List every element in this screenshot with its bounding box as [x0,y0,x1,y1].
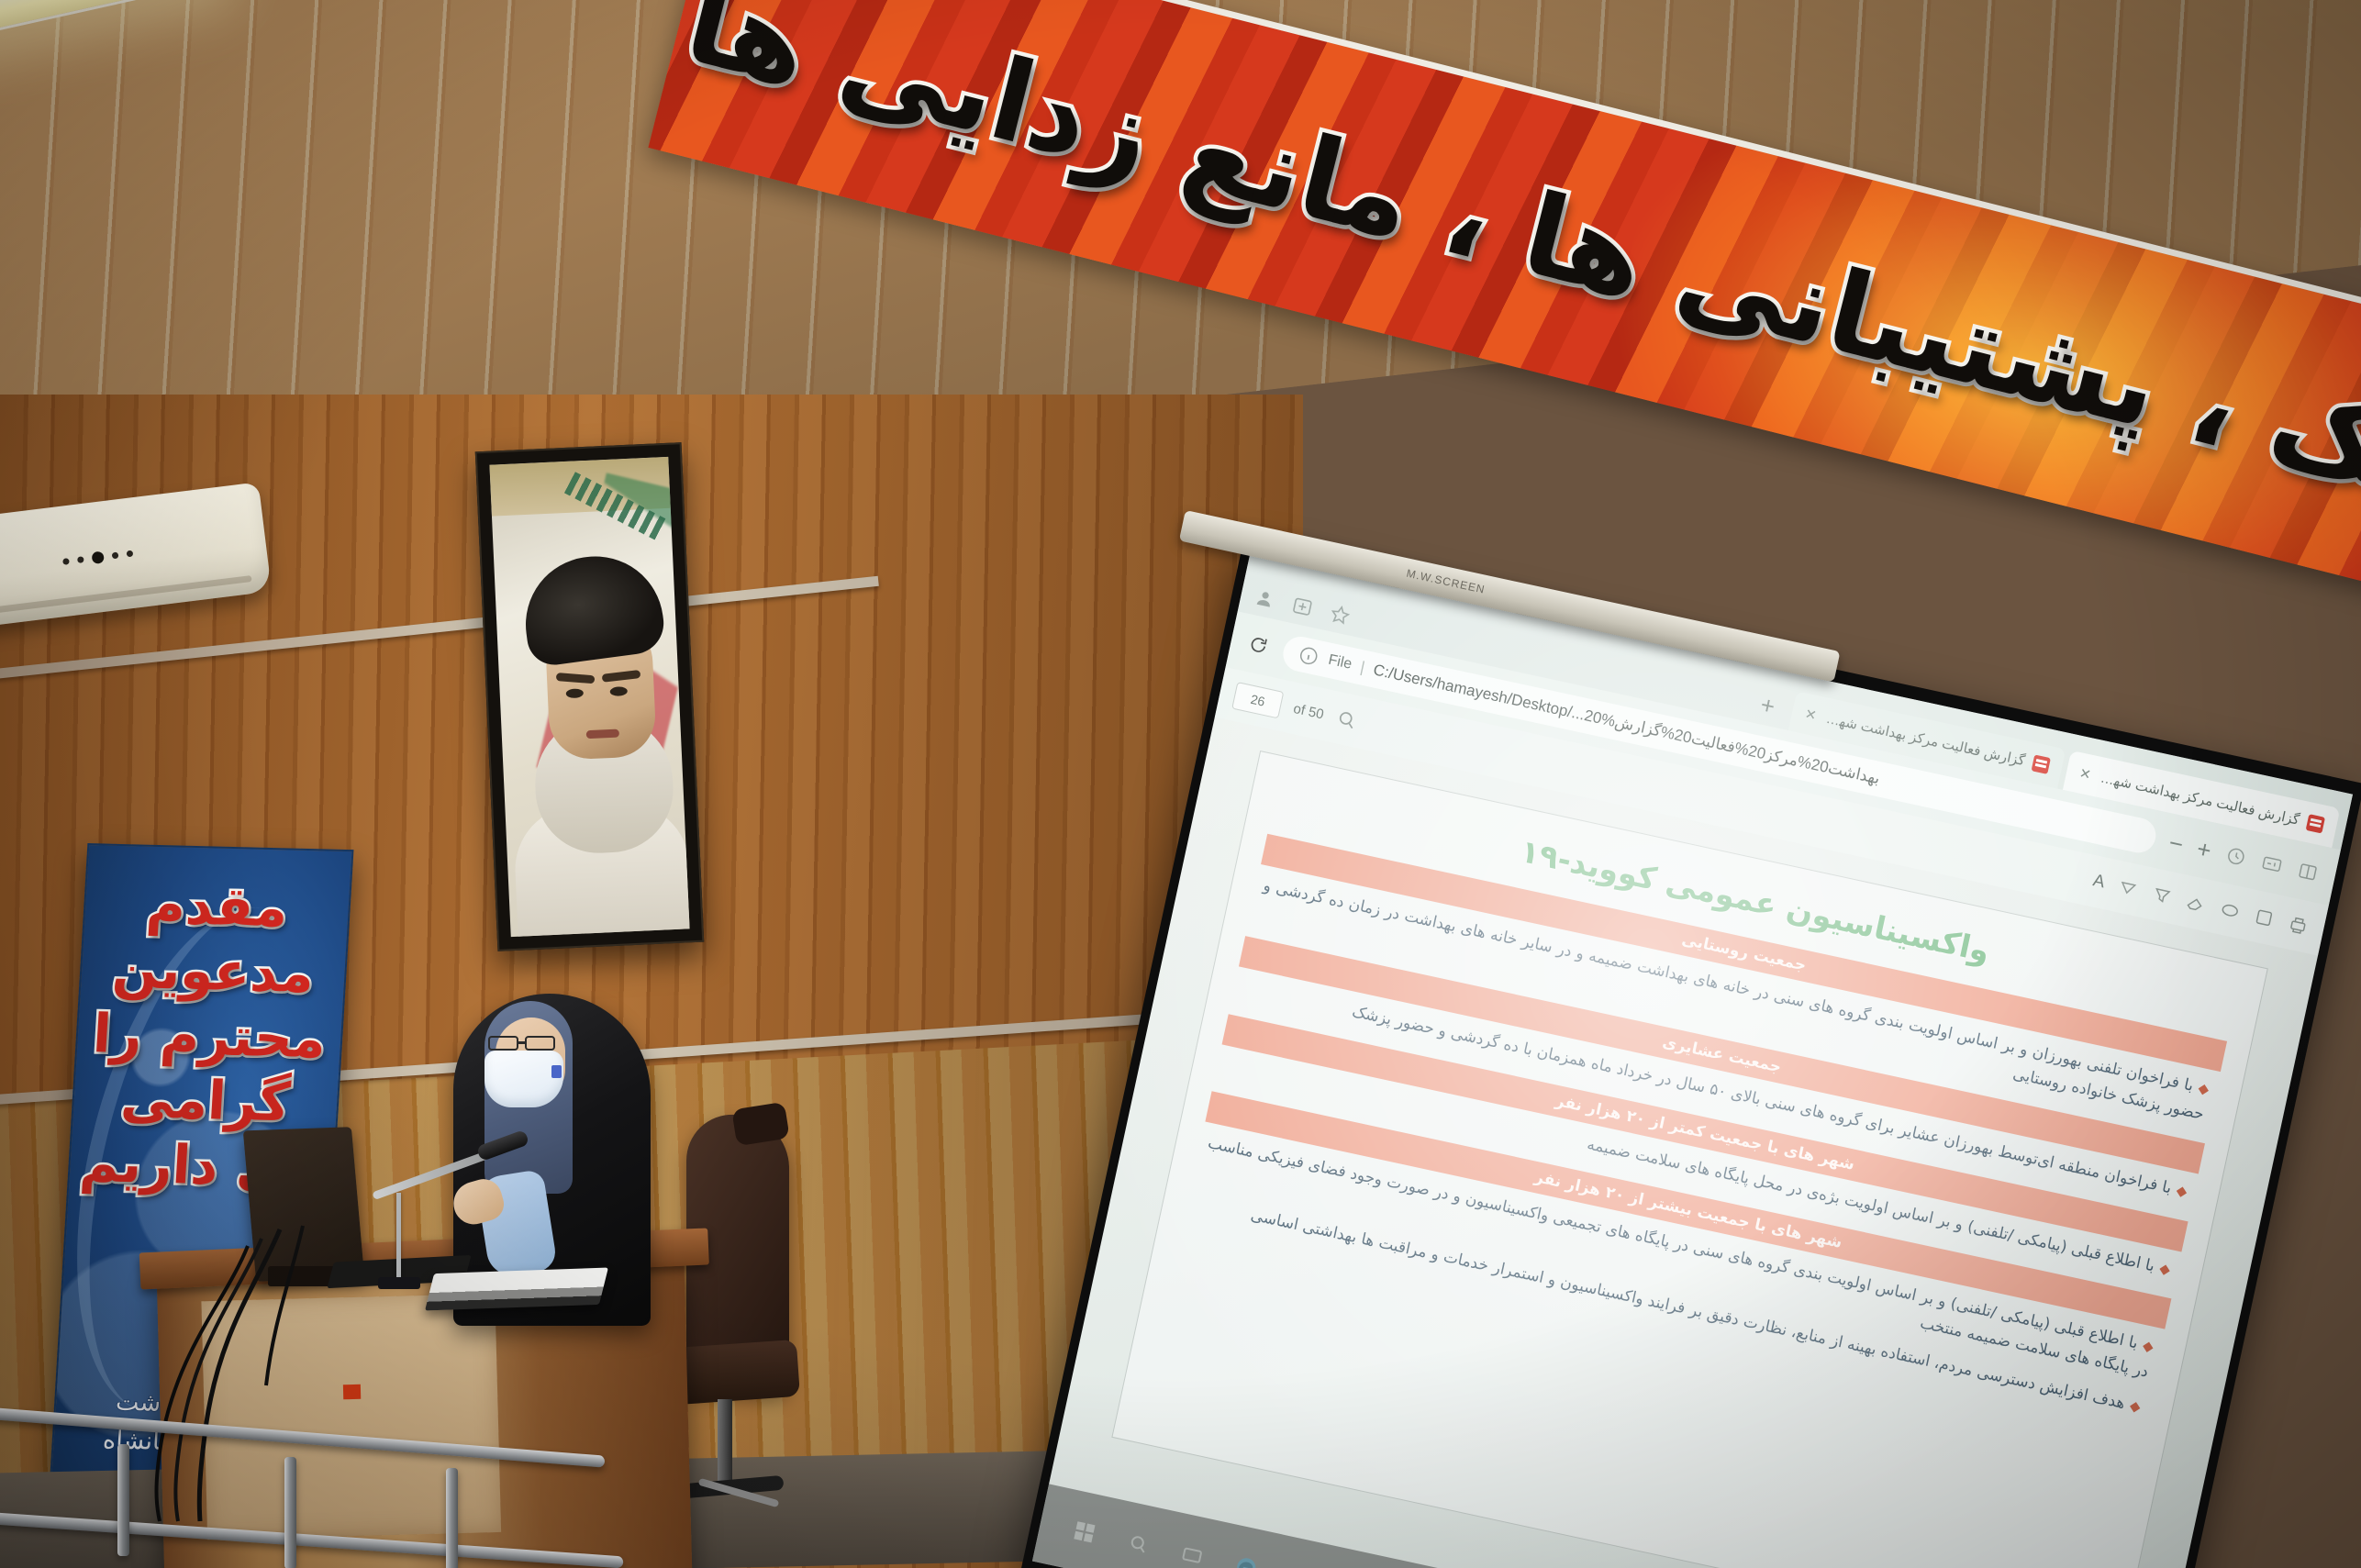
handrail-post [284,1457,296,1568]
blue-banner-line-2: مدعوین [80,936,346,1007]
file-explorer-icon[interactable] [1284,1562,1317,1568]
portrait-eye-right [610,686,628,696]
projected-image: گزارش فعالیت مرکز بهداشت شهر... ✕ گزارش … [1032,556,2353,1568]
read-aloud-icon[interactable] [2295,859,2322,885]
rotate-icon[interactable] [2223,843,2250,870]
file-scheme-chip: File [1327,652,1353,673]
close-icon[interactable]: ✕ [2077,764,2092,783]
edge-icon[interactable] [1230,1551,1263,1568]
blue-banner-line-1: مقدم [84,871,350,942]
portrait-eye-left [566,688,584,698]
close-icon[interactable]: ✕ [1803,706,1818,724]
podium-monitor [243,1127,364,1281]
info-circle-icon[interactable] [1296,643,1322,670]
pdf-icon [2306,814,2325,833]
stainless-steel-handrail [0,1431,624,1568]
profile-icon[interactable] [1252,585,1278,612]
save-icon[interactable] [2251,905,2277,931]
search-icon[interactable] [1334,706,1361,733]
pdf-icon [2032,754,2051,773]
mask-ear-clip [551,1065,562,1078]
lectern-red-marker [343,1385,361,1399]
conference-hall-photo: لیک ، پشتیبانی ها ، مانع زدایی ها مبارکب… [0,0,2361,1568]
fit-page-icon[interactable] [2259,851,2286,878]
handrail-post [446,1468,458,1568]
ac-indicator-lights [62,548,134,568]
blue-banner-line-3: محترم را [76,1000,342,1072]
bullet-icon: ◆ [2128,1397,2142,1416]
chair-gas-cylinder [718,1399,732,1487]
start-icon[interactable] [1068,1516,1101,1549]
projection-screen: گزارش فعالیت مرکز بهداشت شهر... ✕ گزارش … [1021,541,2361,1568]
search-icon[interactable] [1122,1528,1155,1561]
eyeglasses-icon [488,1036,571,1051]
handrail-post [117,1444,129,1556]
highlight-icon[interactable] [2149,883,2176,909]
print-icon[interactable] [2285,912,2311,939]
screen-brand-label: M.W.SCREEN [1405,567,1486,596]
ask-copilot-icon[interactable] [2217,897,2244,924]
laptop [425,1267,608,1310]
address-separator: | [1359,658,1367,676]
reload-icon[interactable] [1245,632,1272,659]
draw-icon[interactable] [2115,875,2142,902]
text-size-button[interactable]: A [2091,871,2107,893]
framed-portrait [475,442,704,951]
portrait-mouth [586,729,619,740]
page-count-label: of 50 [1292,700,1325,722]
portrait-brow-right [602,670,641,683]
microphone-stand [396,1193,401,1283]
bullet-icon: ◆ [2142,1337,2155,1355]
zoom-out-button[interactable]: − [2166,828,2186,860]
portrait-brow-left [556,673,596,684]
edge-browser-window: گزارش فعالیت مرکز بهداشت شهر... ✕ گزارش … [1032,556,2353,1568]
task-view-icon[interactable] [1175,1539,1208,1568]
page-number-input[interactable]: 26 [1231,682,1284,718]
handrail-lower-bar [0,1512,624,1568]
bullet-icon: ◆ [2197,1080,2211,1098]
favorites-star-icon[interactable] [1327,602,1353,628]
bullet-icon: ◆ [2175,1182,2188,1200]
bullet-icon: ◆ [2158,1260,2172,1278]
zoom-in-button[interactable]: + [2194,834,2213,865]
face-mask-icon [484,1051,563,1107]
microphone-base [378,1277,420,1289]
portrait-canvas [489,457,689,937]
blue-banner-line-4: گرامی [72,1065,339,1137]
erase-icon[interactable] [2183,890,2210,917]
collections-icon[interactable] [1289,594,1316,620]
